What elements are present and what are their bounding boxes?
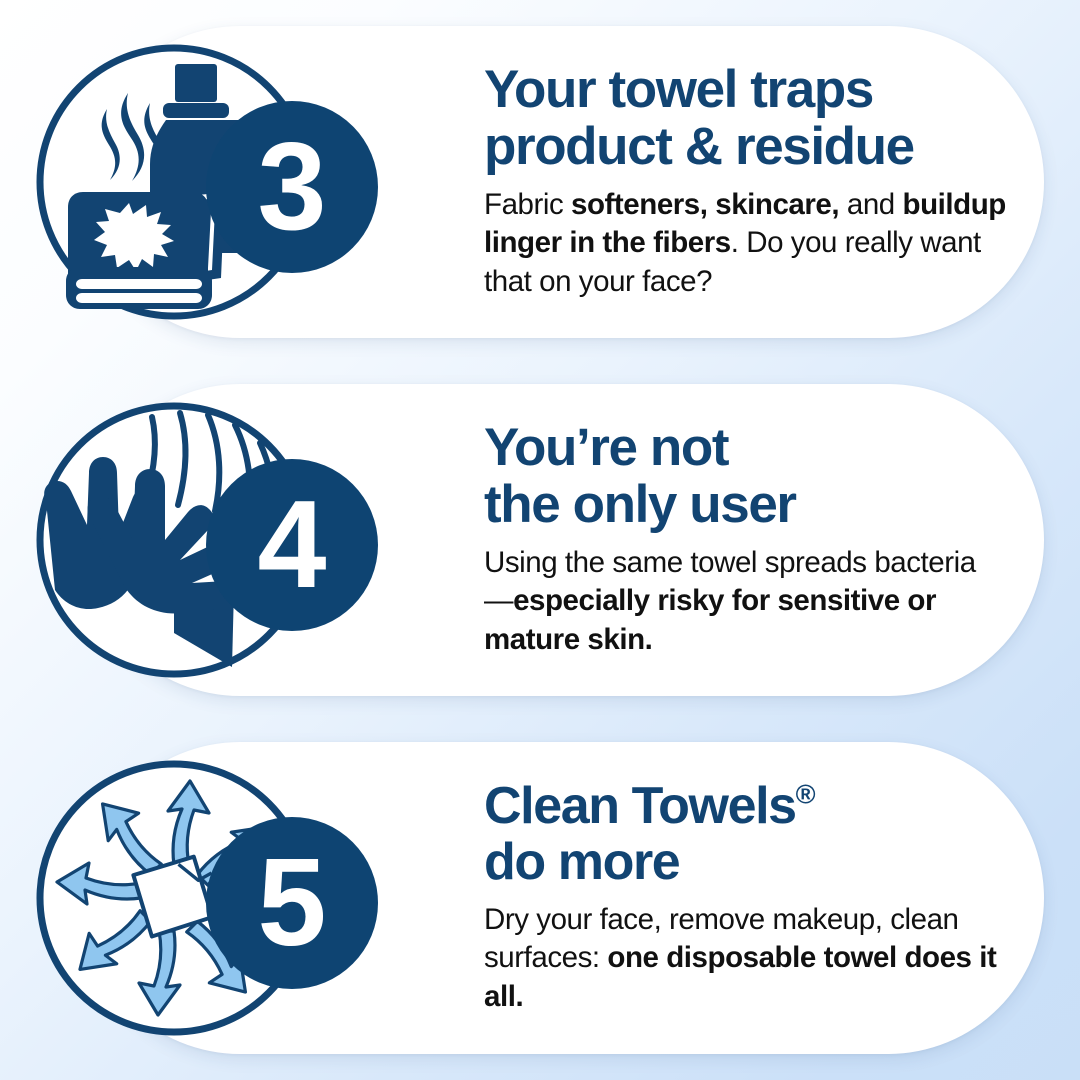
card-body: Dry your face, remove makeup, clean surf…	[484, 901, 1010, 1017]
benefit-card-3: 3 Your towel traps product & residue Fab…	[84, 26, 1044, 338]
step-number-4: 4	[258, 476, 327, 614]
wipe-with-radiating-arrows-icon: 5	[24, 753, 394, 1043]
step-number-5: 5	[258, 834, 327, 972]
card-copy: You’re not the only user Using the same …	[484, 420, 1010, 659]
step-number-badge	[206, 817, 378, 989]
card-body: Fabric softeners, skincare, and buildup …	[484, 186, 1010, 302]
card-headline: You’re not the only user	[484, 420, 1010, 533]
step-number-badge	[206, 101, 378, 273]
infographic-board: 3 Your towel traps product & residue Fab…	[0, 0, 1080, 1080]
card-headline: Your towel traps product & residue	[484, 62, 1010, 175]
card-body: Using the same towel spreads bacteria —e…	[484, 544, 1010, 660]
card-headline: Clean Towels® do more	[484, 779, 1010, 890]
step-number-3: 3	[258, 118, 327, 256]
detergent-bottle-and-stained-towel-icon: 3	[24, 37, 394, 327]
two-hands-drying-on-towel-icon: 4	[24, 395, 394, 685]
center-wipe	[132, 855, 213, 937]
card-copy: Your towel traps product & residue Fabri…	[484, 62, 1010, 301]
step-number-badge	[206, 459, 378, 631]
card-copy: Clean Towels® do more Dry your face, rem…	[484, 779, 1010, 1016]
benefit-card-4: 4 You’re not the only user Using the sam…	[84, 384, 1044, 696]
registered-trademark-mark: ®	[796, 780, 816, 810]
benefit-card-5: 5 Clean Towels® do more Dry your face, r…	[84, 742, 1044, 1054]
